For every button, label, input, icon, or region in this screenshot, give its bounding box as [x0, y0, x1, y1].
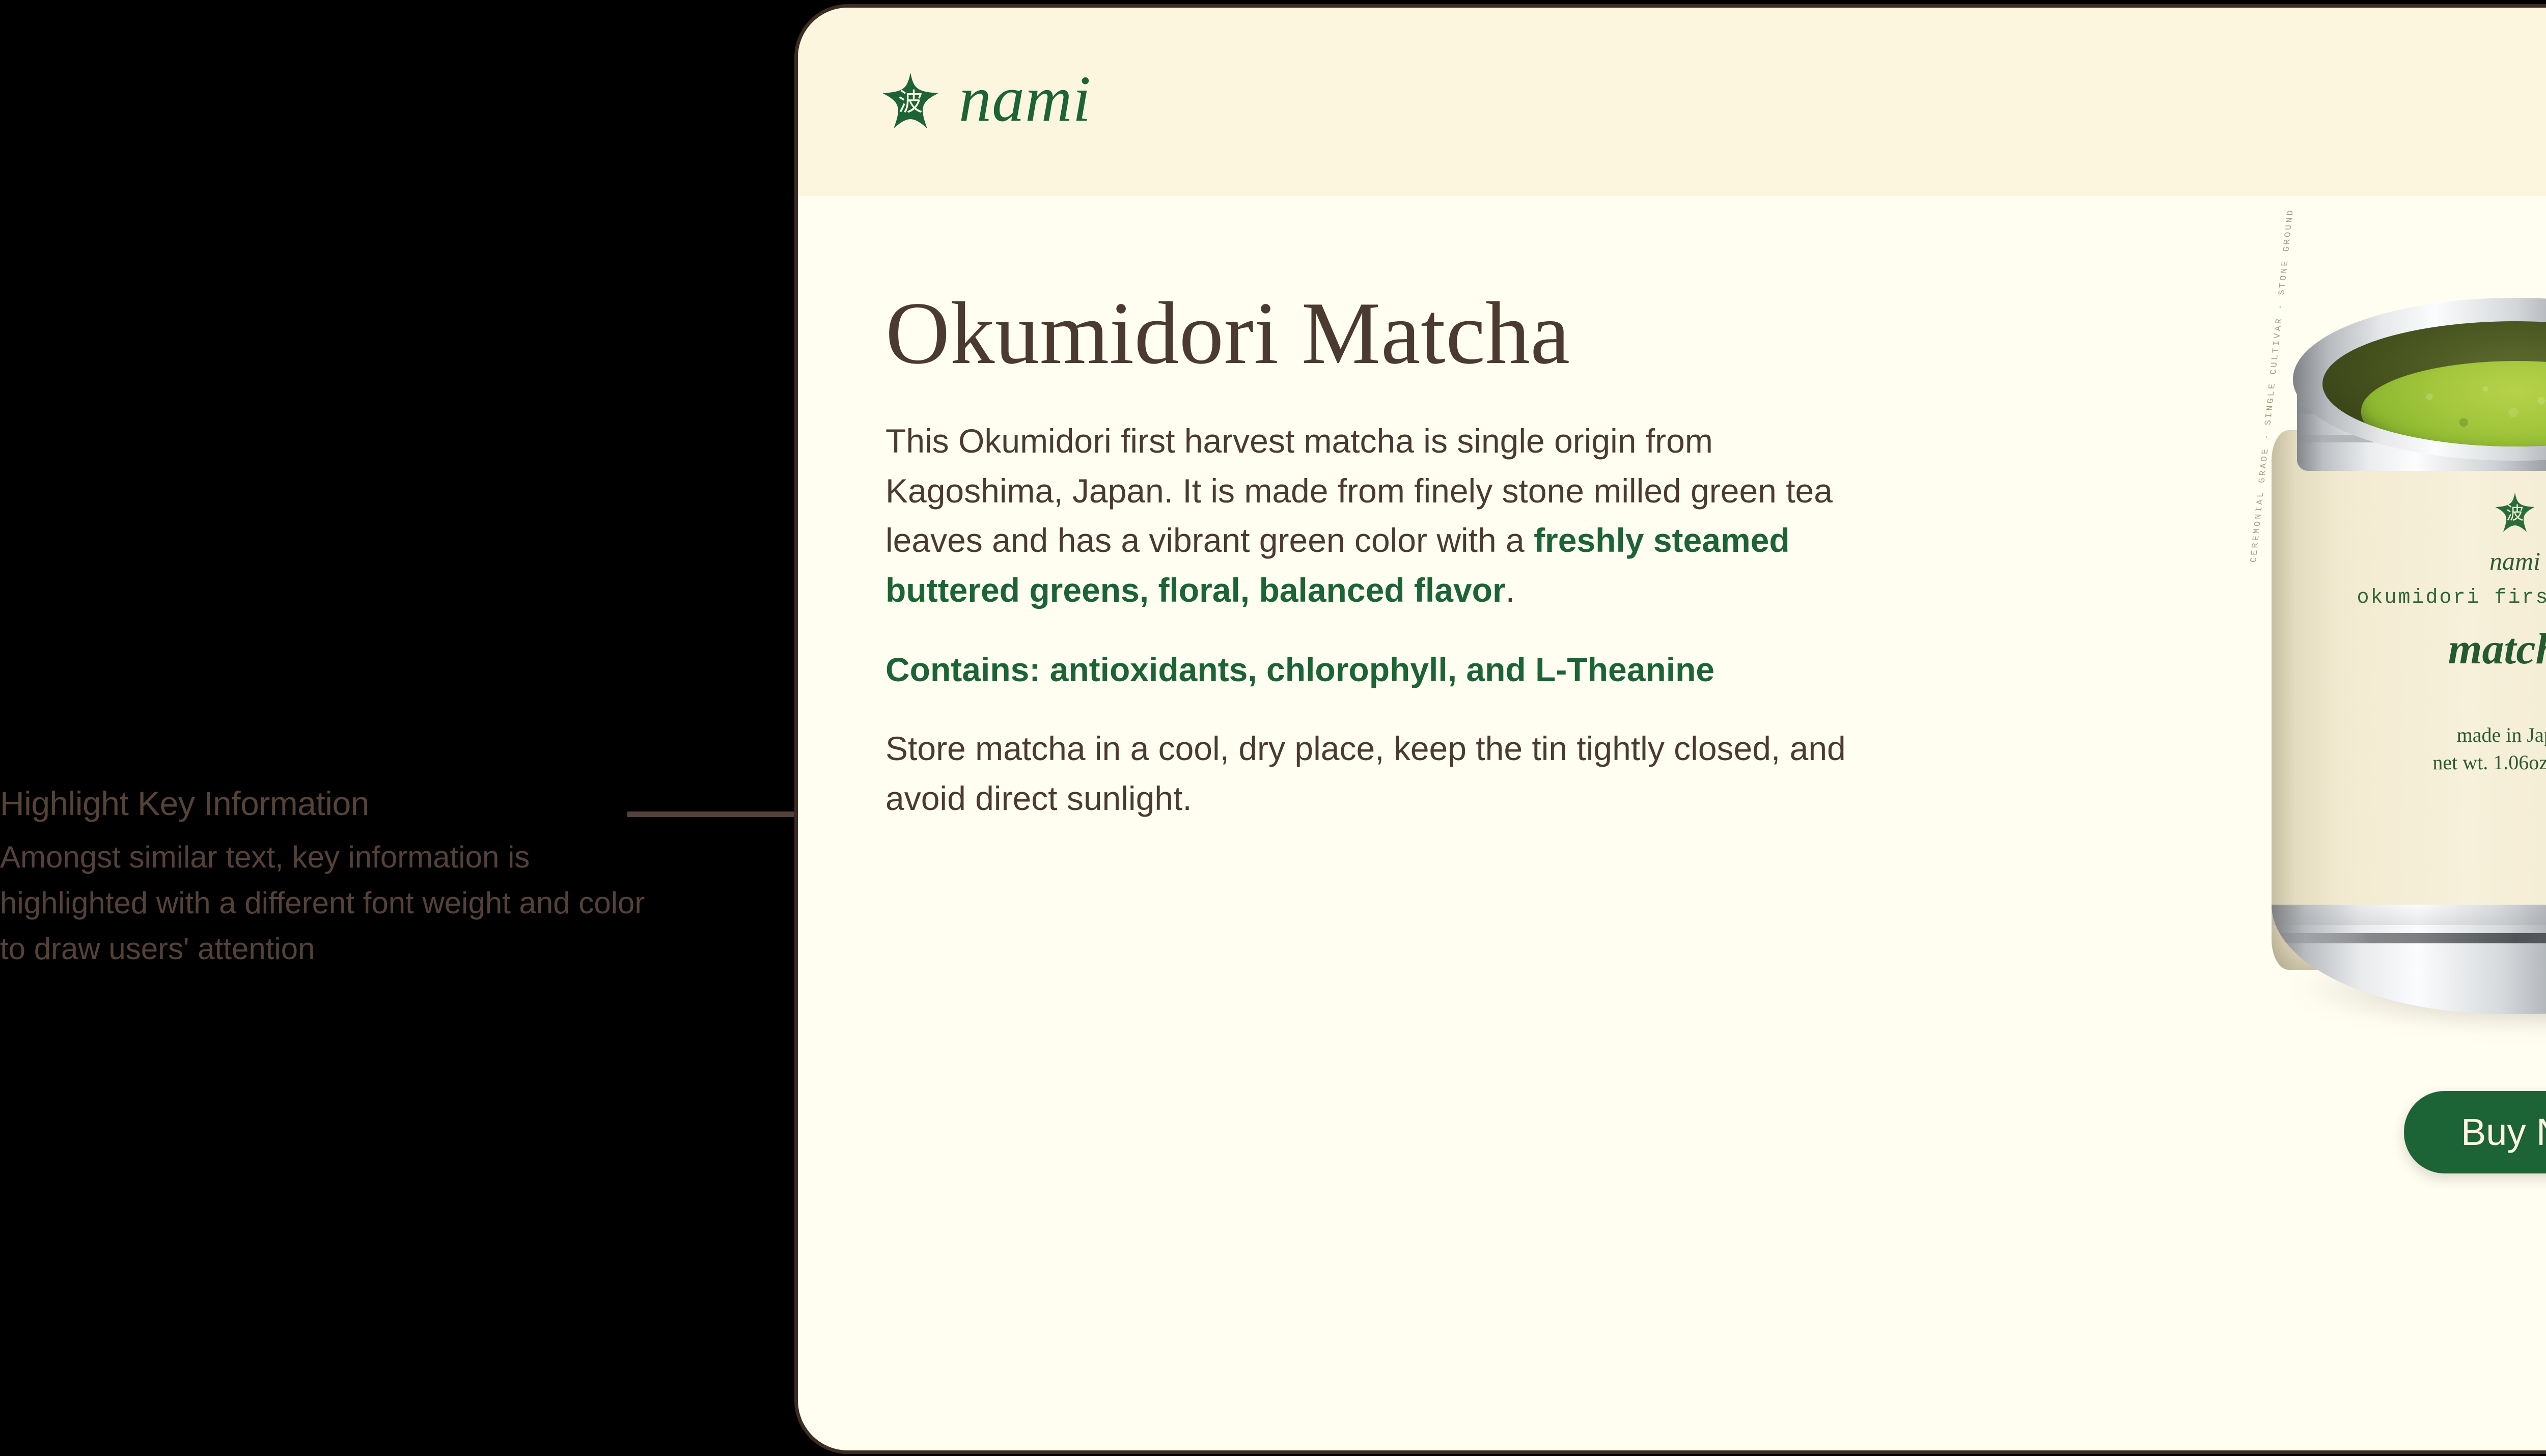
brand-logo[interactable]: 波 nami — [879, 69, 1091, 134]
tin-product-name: matcha — [2337, 627, 2546, 670]
matcha-powder — [2361, 361, 2546, 446]
website-preview-card: 波 nami Home Products Tutorial Okumidori … — [794, 4, 2546, 1454]
annotation-panel: Highlight Key Information Amongst simila… — [0, 0, 835, 1456]
site-header: 波 nami Home Products Tutorial — [798, 8, 2546, 196]
tin-variety: okumidori first harvest — [2337, 588, 2546, 608]
annotation-body: Amongst similar text, key information is… — [0, 834, 647, 972]
nami-star-icon: 波 — [879, 71, 942, 133]
product-contains: Contains: antioxidants, chlorophyll, and… — [885, 645, 1878, 695]
tin-net-weight: net wt. 1.06oz (30g) — [2337, 749, 2546, 776]
svg-text:波: 波 — [898, 88, 923, 117]
product-title: Okumidori Matcha — [885, 289, 1908, 378]
product-storage: Store matcha in a cool, dry place, keep … — [885, 724, 1878, 823]
tin-nami-star-icon: 波 — [2493, 491, 2537, 535]
product-image: CEREMONIAL GRADE · SINGLE CULTIVAR · STO… — [2236, 277, 2546, 1082]
tin-brand: nami — [2337, 548, 2546, 574]
matcha-tin: CEREMONIAL GRADE · SINGLE CULTIVAR · STO… — [2260, 277, 2546, 1000]
tin-label-content: 波 nami okumidori first harvest matcha ma… — [2337, 491, 2546, 776]
annotation-title: Highlight Key Information — [0, 787, 657, 820]
description-tail: . — [1506, 571, 1515, 609]
product-media-column: CEREMONIAL GRADE · SINGLE CULTIVAR · STO… — [1908, 196, 2546, 1454]
annotation-callout: Highlight Key Information Amongst simila… — [0, 787, 657, 972]
tin-bottom-shade — [2272, 905, 2546, 925]
svg-text:波: 波 — [2506, 503, 2524, 524]
product-description: This Okumidori first harvest matcha is s… — [885, 416, 1878, 615]
product-detail-content: Okumidori Matcha This Okumidori first ha… — [798, 196, 2546, 1454]
product-info-column: Okumidori Matcha This Okumidori first ha… — [798, 196, 1908, 1454]
tin-origin: made in Japan — [2337, 721, 2546, 749]
brand-name: nami — [959, 66, 1091, 131]
buy-now-button[interactable]: Buy Now — [2404, 1091, 2546, 1173]
